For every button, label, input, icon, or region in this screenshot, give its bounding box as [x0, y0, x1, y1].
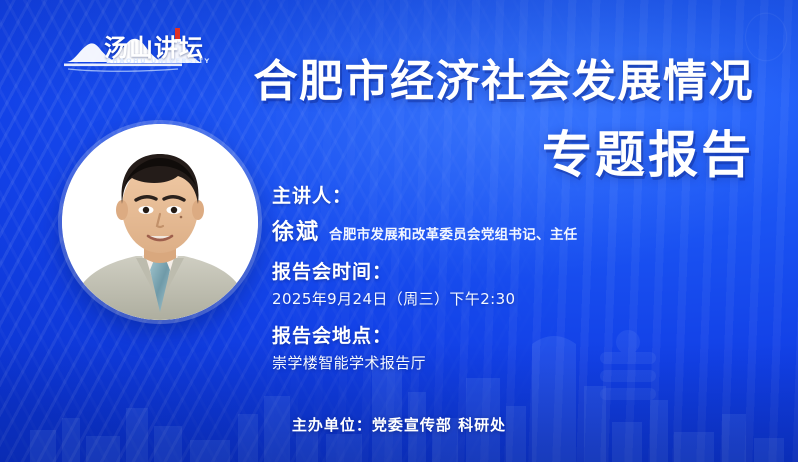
speaker-label: 主讲人： — [272, 186, 702, 207]
speaker-row: 徐斌 合肥市发展和改革委员会党组书记、主任 — [272, 214, 702, 246]
time-label: 报告会时间： — [272, 262, 702, 283]
headline-line-2: 专题报告 — [542, 130, 754, 180]
time-value: 2025年9月24日（周三）下午2:30 — [272, 290, 702, 308]
speaker-group: 主讲人： 徐斌 合肥市发展和改革委员会党组书记、主任 — [272, 186, 702, 246]
poster-canvas: 汤山讲坛 CHAOHU UNIVERSITY 合肥市经济社会发展情况 专题报告 — [0, 0, 798, 462]
place-group: 报告会地点： 崇学楼智能学术报告厅 — [272, 326, 702, 372]
place-label: 报告会地点： — [272, 326, 702, 347]
speaker-portrait — [62, 124, 258, 320]
place-value: 崇学楼智能学术报告厅 — [272, 354, 702, 372]
details-block: 主讲人： 徐斌 合肥市发展和改革委员会党组书记、主任 报告会时间： 2025年9… — [272, 186, 702, 374]
speaker-name: 徐斌 — [272, 214, 320, 246]
headline-line-1: 合肥市经济社会发展情况 — [254, 60, 755, 104]
organizer-line: 主办单位：党委宣传部 科研处 — [0, 414, 798, 435]
speaker-position: 合肥市发展和改革委员会党组书记、主任 — [329, 223, 577, 243]
time-group: 报告会时间： 2025年9月24日（周三）下午2:30 — [272, 262, 702, 308]
